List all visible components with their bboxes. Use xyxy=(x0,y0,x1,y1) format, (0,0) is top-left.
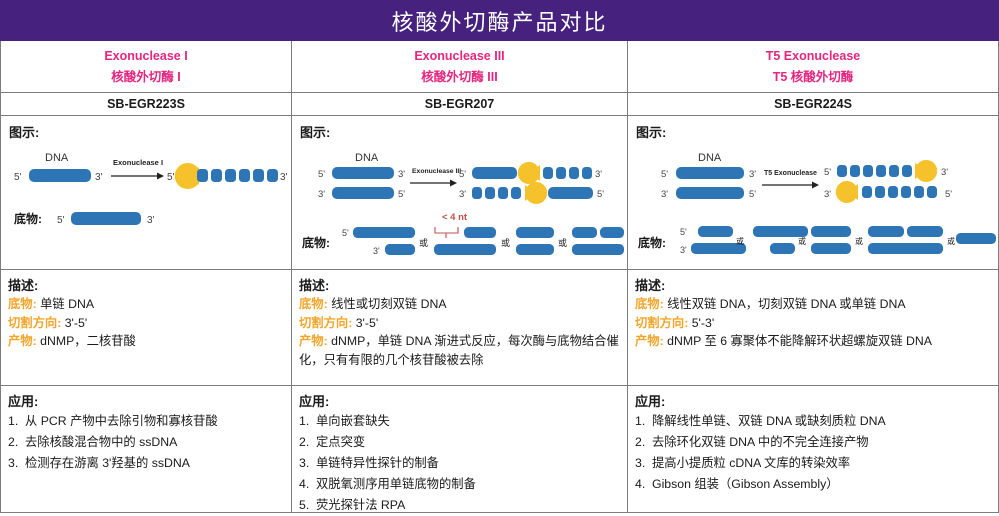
list-text: 降解线性单链、双链 DNA 或缺刻质粒 DNA xyxy=(652,411,991,432)
substrate-value-3: 线性双链 DNA，切刻双链 DNA 或单链 DNA xyxy=(667,297,905,311)
svg-text:3': 3' xyxy=(680,245,687,255)
list-text: 从 PCR 产物中去除引物和寡核苷酸 xyxy=(25,411,284,432)
enzyme-name-cn-1: 核酸外切酶 I xyxy=(111,66,180,85)
list-item: 3.提高小提质粒 cDNA 文库的转染效率 xyxy=(635,453,991,474)
enzyme-name-en-2: Exonuclease III xyxy=(414,49,504,63)
list-number: 2. xyxy=(635,432,652,453)
list-text: Gibson 组装（Gibson Assembly） xyxy=(652,474,991,495)
direction-value-3: 5'-3' xyxy=(692,316,714,330)
list-text: 去除核酸混合物中的 ssDNA xyxy=(25,432,284,453)
svg-text:5': 5' xyxy=(749,189,756,200)
list-item: 2.去除核酸混合物中的 ssDNA xyxy=(8,432,284,453)
dna-label-1: DNA xyxy=(45,152,69,164)
direction-value-1: 3'-5' xyxy=(65,316,87,330)
description-product-1: 产物: dNMP，二核苷酸 xyxy=(8,332,284,351)
list-number: 3. xyxy=(299,453,316,474)
list-item: 2.去除环化双链 DNA 中的不完全连接产物 xyxy=(635,432,991,453)
description-product-3: 产物: dNMP 至 6 寡聚体不能降解环状超螺旋双链 DNA xyxy=(635,332,991,351)
list-text: 检测存在游离 3'羟基的 ssDNA xyxy=(25,453,284,474)
product-prefix-3: 产物: xyxy=(635,334,664,348)
svg-text:5': 5' xyxy=(459,169,466,180)
diagram-label-2: 图示: xyxy=(300,122,627,141)
list-text: 定点突变 xyxy=(316,432,620,453)
description-label-1: 描述: xyxy=(8,276,284,295)
list-text: 单向嵌套缺失 xyxy=(316,411,620,432)
diagram-graphic-2: DNA 5' 3' 3' 5' Exonuclease III 5' xyxy=(300,143,627,271)
list-number: 3. xyxy=(8,453,25,474)
enzyme-name-cell-2: Exonuclease III 核酸外切酶 III xyxy=(292,41,628,93)
svg-text:5': 5' xyxy=(167,172,175,183)
nt-annotation: < 4 nt xyxy=(442,212,468,223)
list-number: 1. xyxy=(8,411,25,432)
description-direction-3: 切割方向: 5'-3' xyxy=(635,314,991,333)
enzyme-label-1: Exonuclease I xyxy=(113,158,163,167)
list-item: 4.Gibson 组装（Gibson Assembly） xyxy=(635,474,991,495)
direction-prefix-3: 切割方向: xyxy=(635,316,688,330)
list-number: 2. xyxy=(8,432,25,453)
svg-text:3': 3' xyxy=(280,172,288,183)
description-cell-1: 描述: 底物: 单链 DNA 切割方向: 3'-5' 产物: dNMP，二核苷酸 xyxy=(0,270,292,386)
enzyme-name-row: Exonuclease I 核酸外切酶 I Exonuclease III 核酸… xyxy=(0,41,999,93)
svg-text:3': 3' xyxy=(595,169,602,180)
description-substrate-2: 底物: 线性或切刻双链 DNA xyxy=(299,295,620,314)
diagram-graphic-1: DNA 5' 3' Exonuclease I 5' xyxy=(9,143,291,271)
list-item: 2.定点突变 xyxy=(299,432,620,453)
list-text: 单链特异性探针的制备 xyxy=(316,453,620,474)
svg-text:3': 3' xyxy=(459,189,466,200)
product-prefix-2: 产物: xyxy=(299,334,328,348)
svg-text:3': 3' xyxy=(373,246,380,256)
description-row: 描述: 底物: 单链 DNA 切割方向: 3'-5' 产物: dNMP，二核苷酸… xyxy=(0,270,999,386)
product-value-2: dNMP，单链 DNA 渐进式反应，每次酶与底物结合催化，只有有限的几个核苷酸被… xyxy=(299,334,619,367)
description-product-2: 产物: dNMP，单链 DNA 渐进式反应，每次酶与底物结合催化，只有有限的几个… xyxy=(299,332,620,369)
description-direction-2: 切割方向: 3'-5' xyxy=(299,314,620,333)
direction-value-2: 3'-5' xyxy=(356,316,378,330)
application-label-1: 应用: xyxy=(8,392,284,411)
product-code-3: SB-EGR224S xyxy=(774,97,852,111)
list-number: 4. xyxy=(635,474,652,495)
enzyme-name-cell-1: Exonuclease I 核酸外切酶 I xyxy=(0,41,292,93)
list-item: 1.降解线性单链、双链 DNA 或缺刻质粒 DNA xyxy=(635,411,991,432)
list-text: 提高小提质粒 cDNA 文库的转染效率 xyxy=(652,453,991,474)
exonuclease1-diagram-svg: DNA 5' 3' Exonuclease I 5' xyxy=(9,143,291,269)
product-code-1: SB-EGR223S xyxy=(107,97,185,111)
svg-text:5': 5' xyxy=(318,169,325,180)
svg-text:或: 或 xyxy=(419,237,428,248)
description-direction-1: 切割方向: 3'-5' xyxy=(8,314,284,333)
description-label-3: 描述: xyxy=(635,276,991,295)
svg-text:3': 3' xyxy=(749,169,756,180)
svg-text:5': 5' xyxy=(824,167,831,178)
product-code-cell-2: SB-EGR207 xyxy=(292,93,628,116)
svg-text:3': 3' xyxy=(398,169,405,180)
application-cell-1: 应用: 1.从 PCR 产物中去除引物和寡核苷酸 2.去除核酸混合物中的 ssD… xyxy=(0,386,292,513)
dna-label-2: DNA xyxy=(355,152,379,164)
svg-text:或: 或 xyxy=(855,236,863,246)
page-title: 核酸外切酶产品对比 xyxy=(0,0,999,41)
svg-text:5': 5' xyxy=(661,169,668,180)
diagram-cell-1: 图示: DNA 5' 3' Exonuclease I 5' xyxy=(0,116,292,270)
application-cell-3: 应用: 1.降解线性单链、双链 DNA 或缺刻质粒 DNA 2.去除环化双链 D… xyxy=(628,386,999,513)
list-item: 3.单链特异性探针的制备 xyxy=(299,453,620,474)
product-value-1: dNMP，二核苷酸 xyxy=(40,334,136,348)
t5-exonuclease-diagram-svg: DNA 5' 3' 3' 5' T5 Exonuclease 5' xyxy=(636,143,997,269)
svg-text:或: 或 xyxy=(558,237,567,248)
description-label-2: 描述: xyxy=(299,276,620,295)
dna-label-3: DNA xyxy=(698,152,722,164)
diagram-graphic-3: DNA 5' 3' 3' 5' T5 Exonuclease 5' xyxy=(636,143,998,271)
application-label-3: 应用: xyxy=(635,392,991,411)
product-code-2: SB-EGR207 xyxy=(425,97,494,111)
svg-text:5': 5' xyxy=(57,215,65,226)
diagram-label-1: 图示: xyxy=(9,122,291,141)
svg-text:3': 3' xyxy=(318,189,325,200)
svg-text:5': 5' xyxy=(14,172,22,183)
description-cell-3: 描述: 底物: 线性双链 DNA，切刻双链 DNA 或单链 DNA 切割方向: … xyxy=(628,270,999,386)
direction-prefix-2: 切割方向: xyxy=(299,316,352,330)
product-prefix-1: 产物: xyxy=(8,334,37,348)
substrate-prefix-1: 底物: xyxy=(8,297,37,311)
enzyme-name-cell-3: T5 Exonuclease T5 核酸外切酶 xyxy=(628,41,999,93)
product-value-3: dNMP 至 6 寡聚体不能降解环状超螺旋双链 DNA xyxy=(667,334,932,348)
application-label-2: 应用: xyxy=(299,392,620,411)
svg-text:3': 3' xyxy=(824,189,831,200)
list-text: 双脱氧测序用单链底物的制备 xyxy=(316,474,620,495)
list-number: 1. xyxy=(299,411,316,432)
list-number: 1. xyxy=(635,411,652,432)
list-item: 1.从 PCR 产物中去除引物和寡核苷酸 xyxy=(8,411,284,432)
description-substrate-3: 底物: 线性双链 DNA，切刻双链 DNA 或单链 DNA xyxy=(635,295,991,314)
diagram-row: 图示: DNA 5' 3' Exonuclease I 5' xyxy=(0,116,999,270)
svg-text:3': 3' xyxy=(941,167,948,178)
svg-text:3': 3' xyxy=(147,215,155,226)
list-text: 去除环化双链 DNA 中的不完全连接产物 xyxy=(652,432,991,453)
description-substrate-1: 底物: 单链 DNA xyxy=(8,295,284,314)
diagram-label-3: 图示: xyxy=(636,122,998,141)
svg-text:3': 3' xyxy=(661,189,668,200)
description-cell-2: 描述: 底物: 线性或切刻双链 DNA 切割方向: 3'-5' 产物: dNMP… xyxy=(292,270,628,386)
product-code-row: SB-EGR223S SB-EGR207 SB-EGR224S xyxy=(0,93,999,116)
svg-text:5': 5' xyxy=(342,228,349,238)
enzyme-label-2: Exonuclease III xyxy=(412,168,461,175)
list-item: 4.双脱氧测序用单链底物的制备 xyxy=(299,474,620,495)
list-number: 3. xyxy=(635,453,652,474)
substrate-value-2: 线性或切刻双链 DNA xyxy=(331,297,446,311)
substrate-label-2: 底物: xyxy=(302,235,330,250)
svg-text:或: 或 xyxy=(736,236,744,246)
exonuclease3-diagram-svg: DNA 5' 3' 3' 5' Exonuclease III 5' xyxy=(300,143,626,269)
application-row: 应用: 1.从 PCR 产物中去除引物和寡核苷酸 2.去除核酸混合物中的 ssD… xyxy=(0,386,999,513)
enzyme-label-3: T5 Exonuclease xyxy=(764,170,817,177)
application-cell-2: 应用: 1.单向嵌套缺失 2.定点突变 3.单链特异性探针的制备 4.双脱氧测序… xyxy=(292,386,628,513)
enzyme-name-en-1: Exonuclease I xyxy=(104,49,187,63)
diagram-cell-3: 图示: DNA 5' 3' 3' 5' T5 Exonuclease 5' xyxy=(628,116,999,270)
enzyme-name-cn-3: T5 核酸外切酶 xyxy=(773,66,854,85)
svg-text:5': 5' xyxy=(680,227,687,237)
svg-text:5': 5' xyxy=(945,189,952,200)
svg-text:5': 5' xyxy=(398,189,405,200)
list-item: 3.检测存在游离 3'羟基的 ssDNA xyxy=(8,453,284,474)
svg-text:或: 或 xyxy=(501,237,510,248)
substrate-prefix-3: 底物: xyxy=(635,297,664,311)
enzyme-name-cn-2: 核酸外切酶 III xyxy=(421,66,497,85)
diagram-cell-2: 图示: DNA 5' 3' 3' 5' Exonuclease III 5' xyxy=(292,116,628,270)
product-code-cell-1: SB-EGR223S xyxy=(0,93,292,116)
substrate-label-3: 底物: xyxy=(638,235,666,250)
substrate-prefix-2: 底物: xyxy=(299,297,328,311)
list-number: 4. xyxy=(299,474,316,495)
substrate-label-1: 底物: xyxy=(14,211,42,226)
comparison-table-page: 核酸外切酶产品对比 Exonuclease I 核酸外切酶 I Exonucle… xyxy=(0,0,999,513)
svg-text:3': 3' xyxy=(95,172,103,183)
enzyme-name-en-3: T5 Exonuclease xyxy=(766,49,861,63)
list-item: 1.单向嵌套缺失 xyxy=(299,411,620,432)
svg-text:或: 或 xyxy=(947,236,955,246)
svg-text:或: 或 xyxy=(798,236,806,246)
product-code-cell-3: SB-EGR224S xyxy=(628,93,999,116)
list-number: 2. xyxy=(299,432,316,453)
substrate-value-1: 单链 DNA xyxy=(40,297,94,311)
svg-text:5': 5' xyxy=(597,189,604,200)
direction-prefix-1: 切割方向: xyxy=(8,316,61,330)
